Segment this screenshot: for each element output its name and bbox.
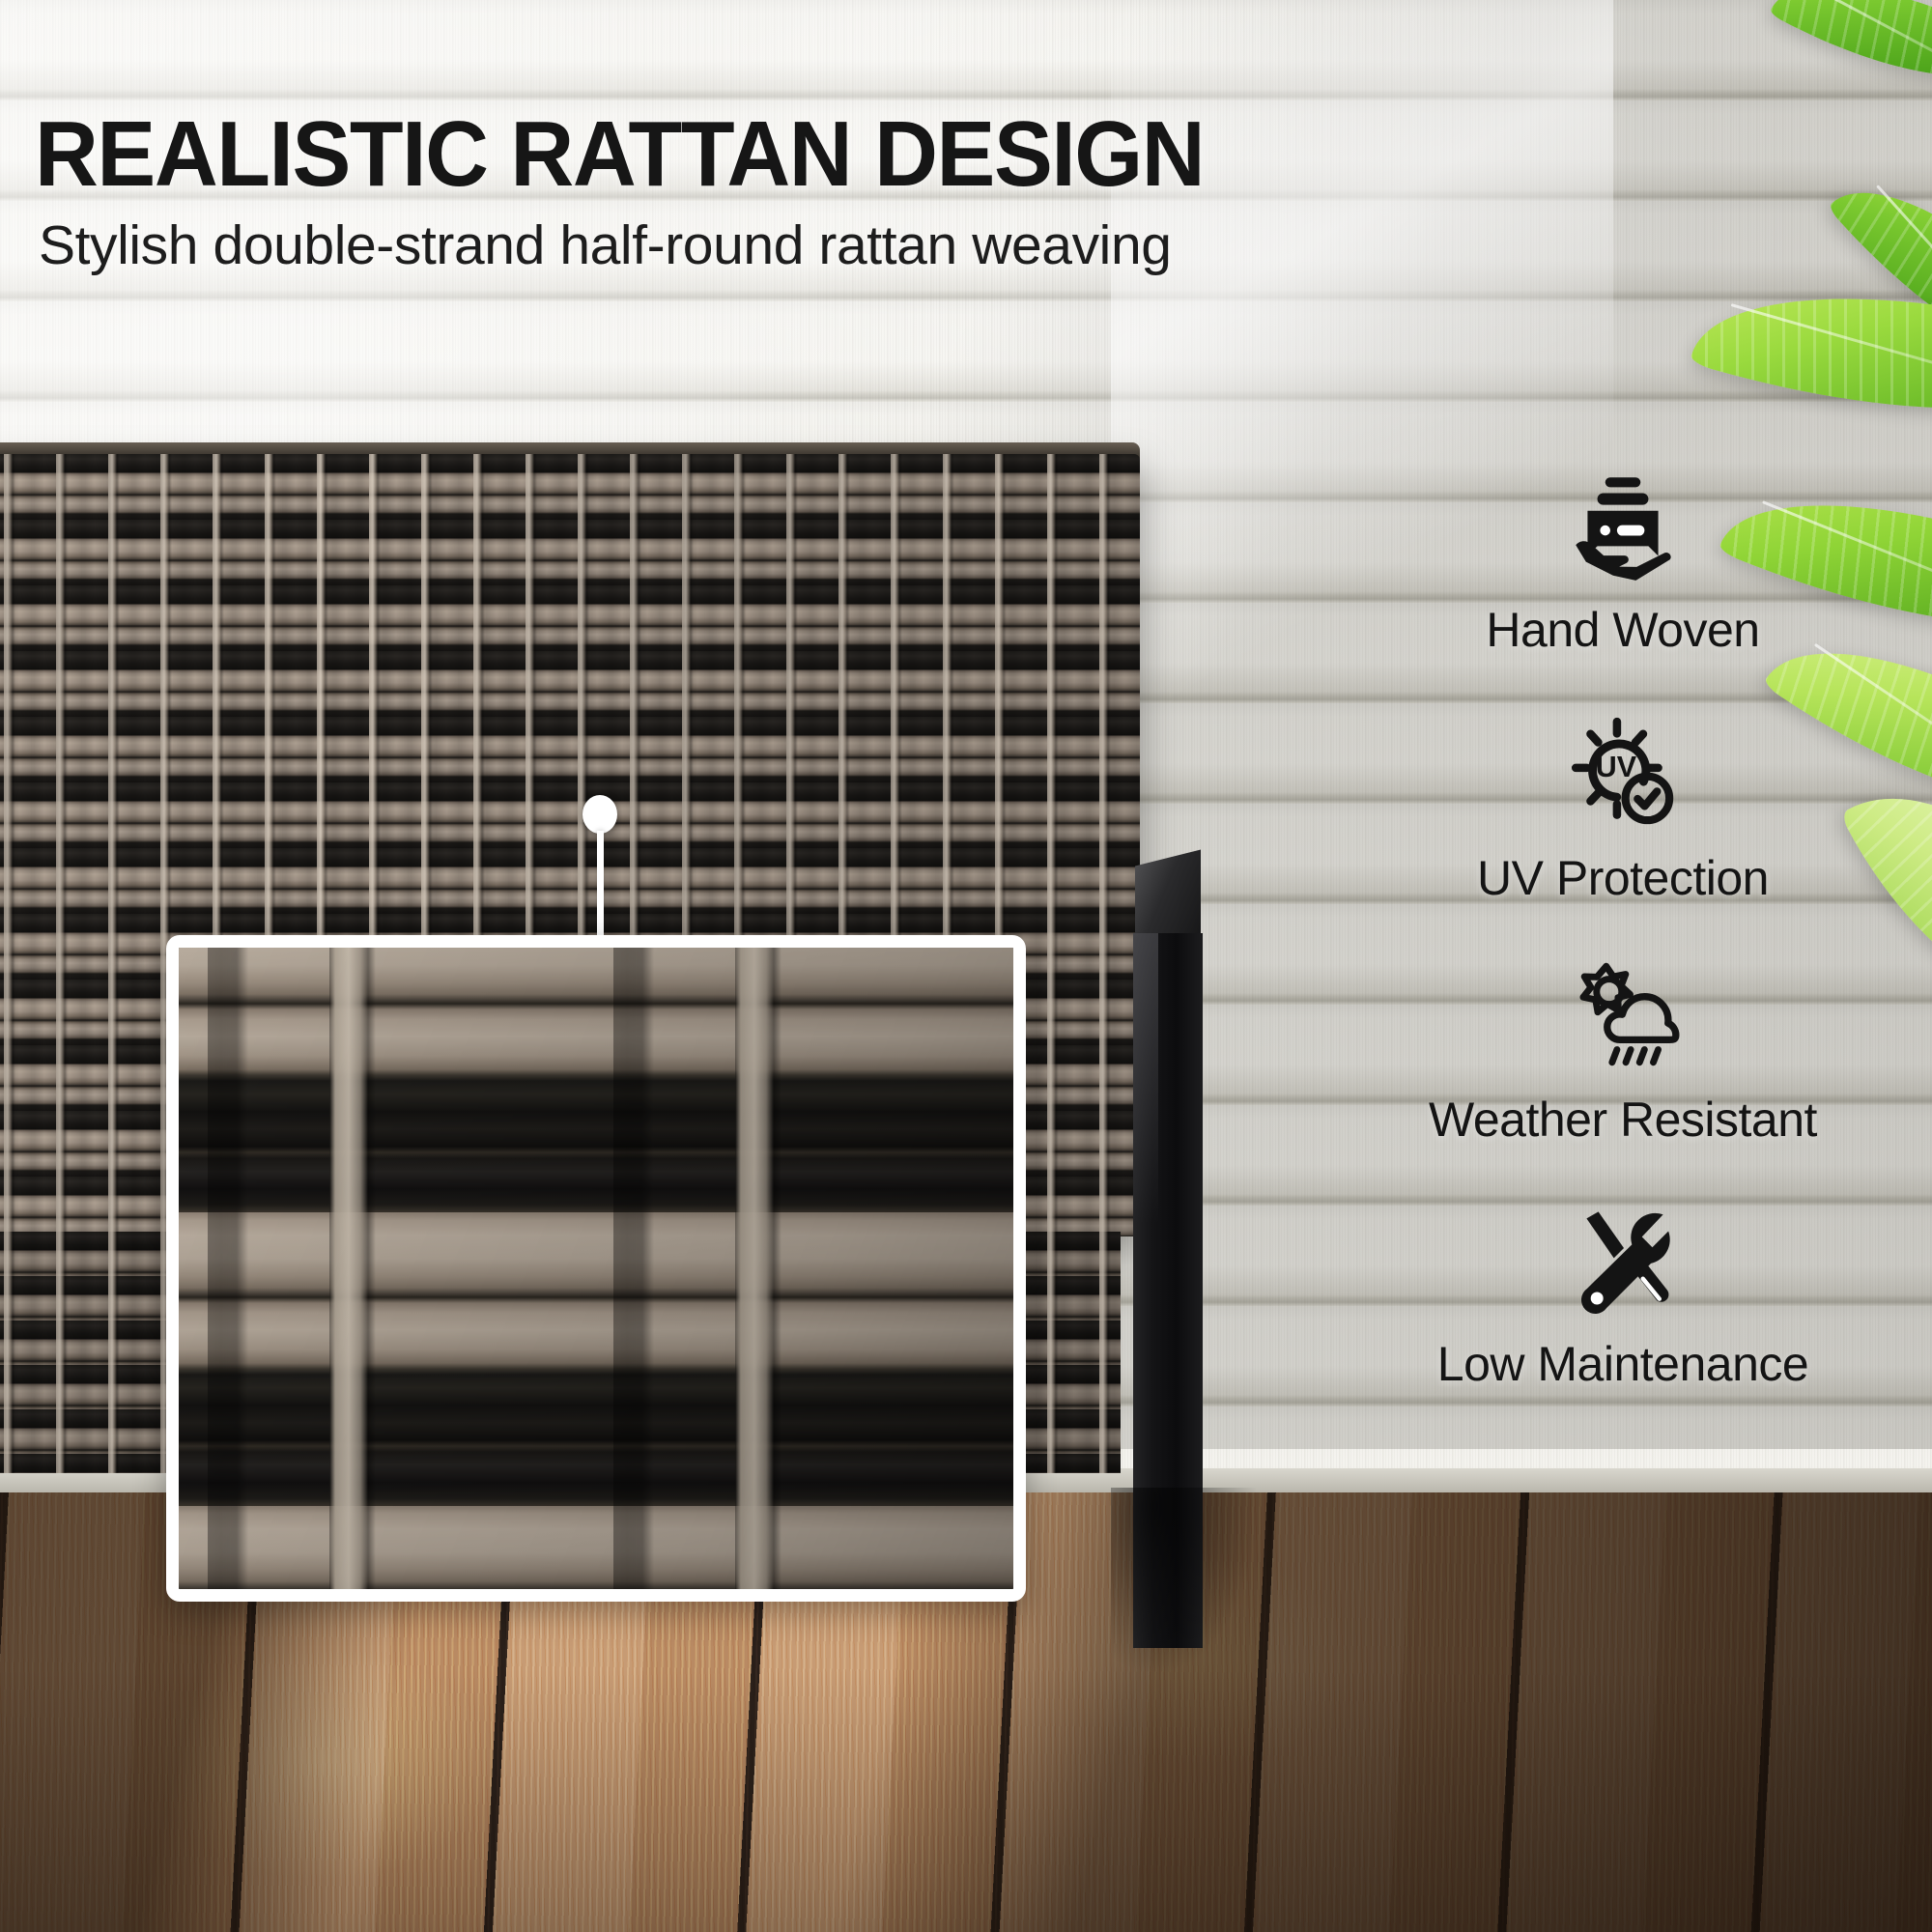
feature-item-weather-resistant: Weather Resistant: [1372, 953, 1874, 1146]
sofa-leg-floor-shadow: [1111, 1488, 1256, 1671]
feature-label: UV Protection: [1372, 853, 1874, 904]
uv-protection-icon: UV: [1560, 712, 1686, 838]
weather-resistant-icon: [1560, 953, 1686, 1079]
feature-label: Hand Woven: [1372, 605, 1874, 656]
feature-label: Weather Resistant: [1372, 1094, 1874, 1146]
infographic-canvas: REALISTIC RATTAN DESIGN Stylish double-s…: [0, 0, 1932, 1932]
hand-woven-icon: [1560, 464, 1686, 589]
feature-item-low-maintenance: Low Maintenance: [1372, 1198, 1874, 1390]
feature-item-hand-woven: Hand Woven: [1372, 464, 1874, 656]
feature-list: Hand Woven UV UV Protection: [1372, 464, 1874, 1445]
magnified-rattan-weave: [179, 948, 1013, 1589]
callout-pin-dot: [582, 795, 617, 834]
page-title: REALISTIC RATTAN DESIGN: [35, 108, 1204, 201]
page-subtitle: Stylish double-strand half-round rattan …: [39, 218, 1172, 273]
weave-detail-callout: [166, 935, 1026, 1602]
sofa-leg-highlight: [1133, 933, 1158, 1223]
magnified-shading-overlay: [179, 948, 1013, 1589]
low-maintenance-icon: [1560, 1198, 1686, 1323]
feature-label: Low Maintenance: [1372, 1339, 1874, 1390]
feature-item-uv-protection: UV UV Protection: [1372, 712, 1874, 904]
